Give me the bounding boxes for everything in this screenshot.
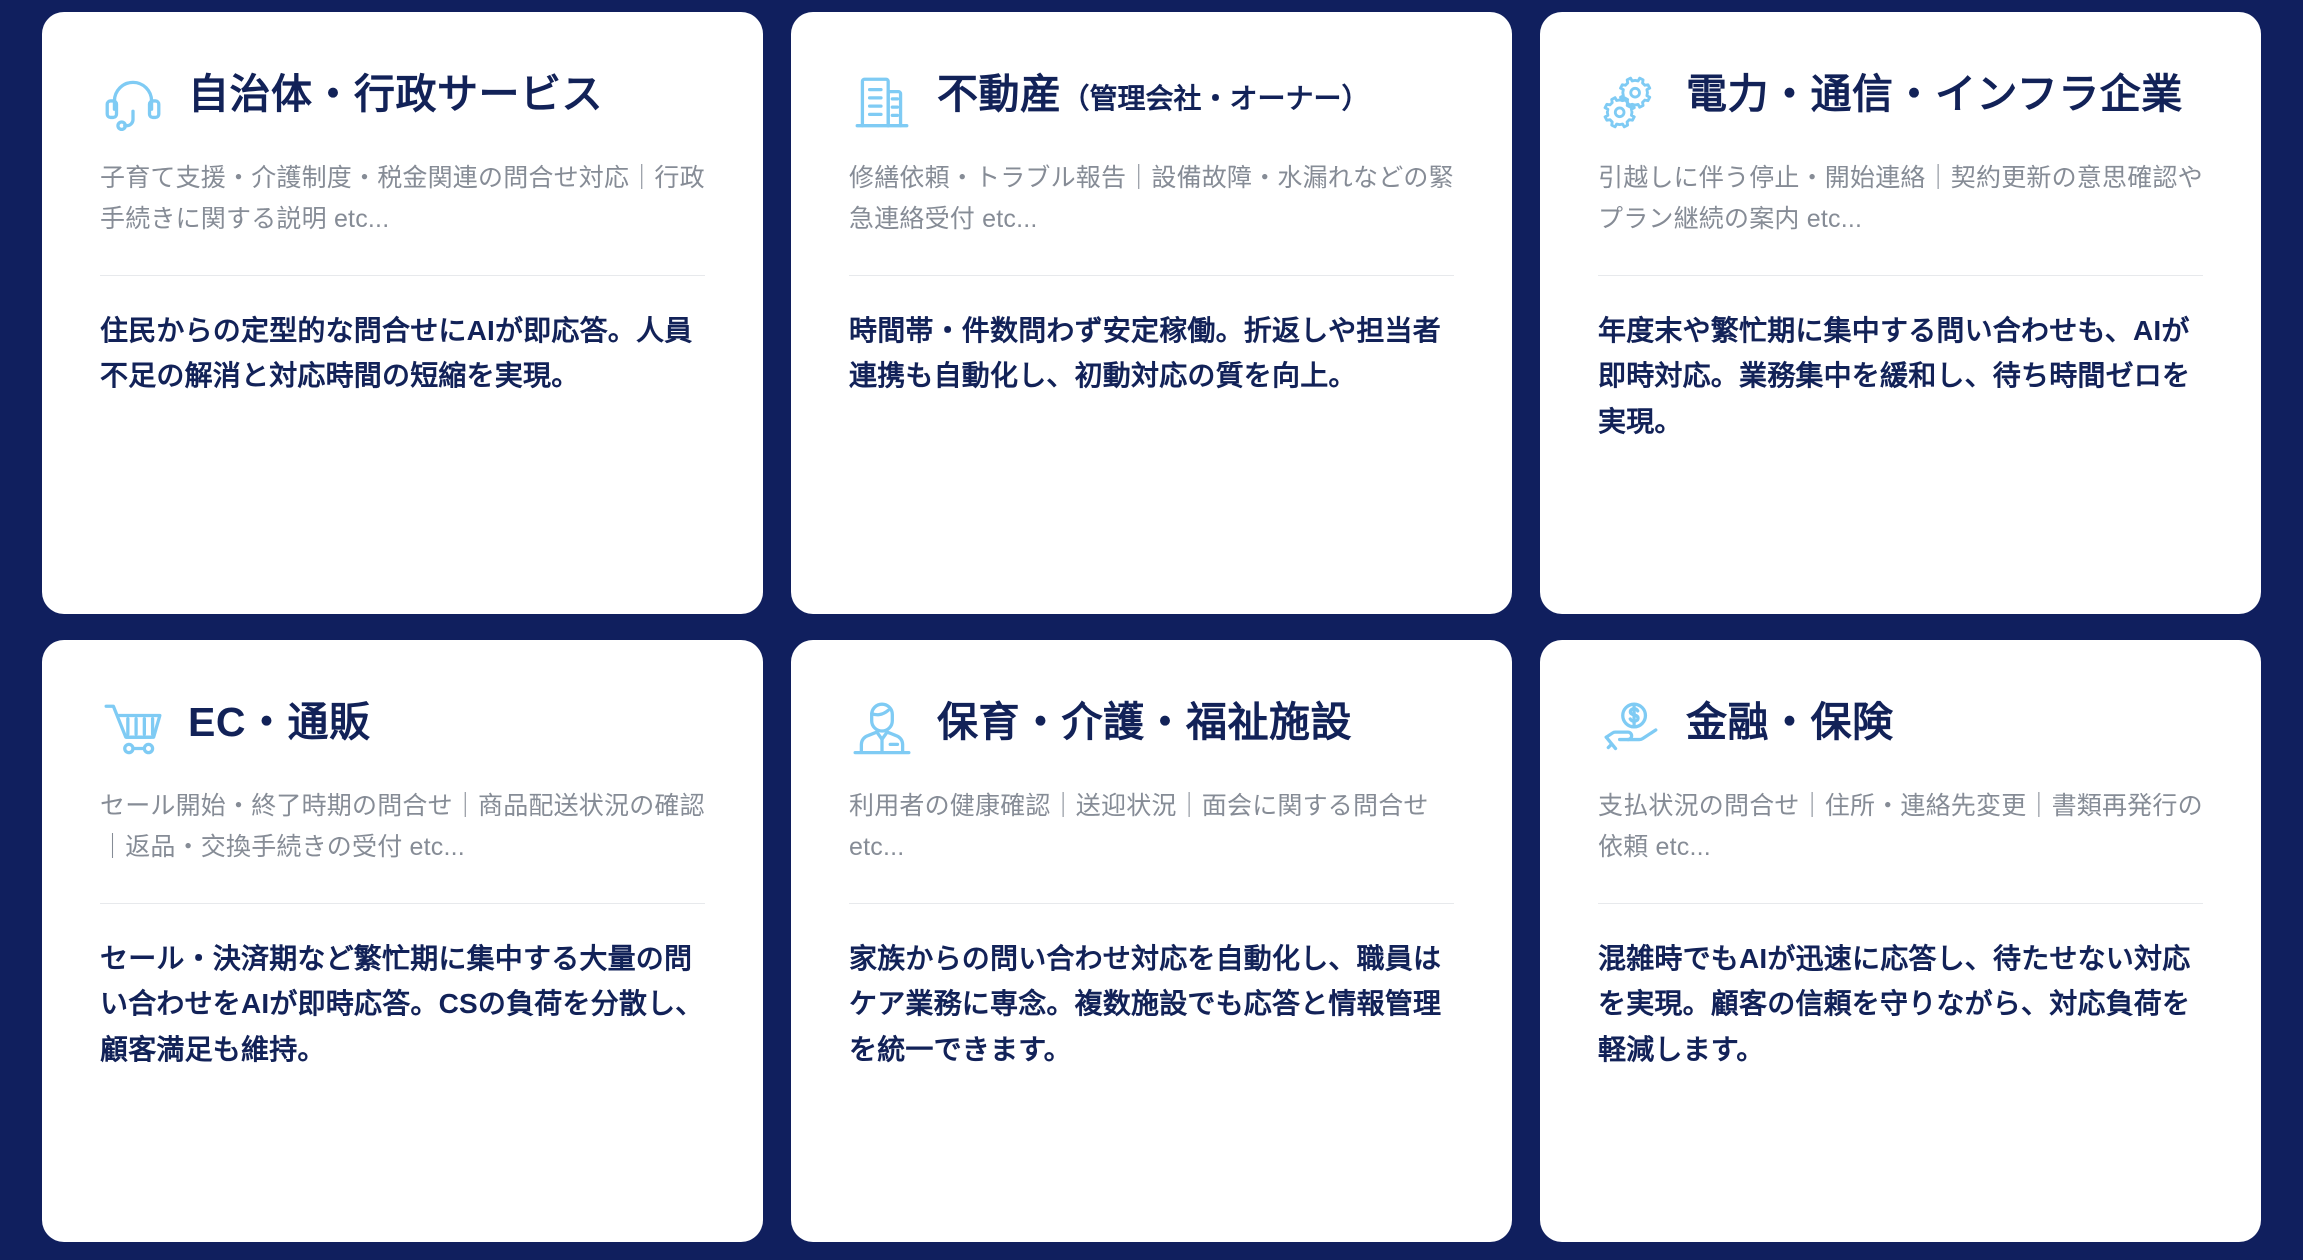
industry-card-grid: 自治体・行政サービス 子育て支援・介護制度・税金関連の問合せ対応｜行政手続きに関… — [0, 0, 2303, 1260]
card-title: 不動産（管理会社・オーナー） — [937, 66, 1370, 120]
card-subtitle: 利用者の健康確認｜送迎状況｜面会に関する問合せ etc... — [849, 786, 1454, 867]
card-title: EC・通販 — [188, 694, 370, 748]
card-divider — [1598, 903, 2203, 904]
card-subtitle: 子育て支援・介護制度・税金関連の問合せ対応｜行政手続きに関する説明 etc... — [100, 158, 705, 239]
card-subtitle: 修繕依頼・トラブル報告｜設備故障・水漏れなどの緊急連絡受付 etc... — [849, 158, 1454, 239]
industry-card-infrastructure[interactable]: 電力・通信・インフラ企業 引越しに伴う停止・開始連絡｜契約更新の意思確認やプラン… — [1540, 12, 2261, 614]
card-divider — [1598, 275, 2203, 276]
card-title-text: EC・通販 — [188, 699, 370, 745]
shopping-cart-icon — [100, 698, 166, 764]
caregiver-icon — [849, 698, 915, 764]
card-body-text: 年度末や繁忙期に集中する問い合わせも、AIが即時対応。業務集中を緩和し、待ち時間… — [1598, 308, 2203, 444]
card-header: 金融・保険 — [1598, 694, 2203, 764]
card-divider — [849, 903, 1454, 904]
hand-coin-icon — [1598, 698, 1664, 764]
card-header: 電力・通信・インフラ企業 — [1598, 66, 2203, 136]
card-subtitle: 支払状況の問合せ｜住所・連絡先変更｜書類再発行の依頼 etc... — [1598, 786, 2203, 867]
card-title-text: 不動産 — [937, 71, 1062, 117]
headset-icon — [100, 70, 166, 136]
card-divider — [100, 903, 705, 904]
card-title: 自治体・行政サービス — [188, 66, 603, 120]
card-title-text: 保育・介護・福祉施設 — [937, 699, 1352, 745]
card-title-paren: （管理会社・オーナー） — [1062, 83, 1370, 114]
building-icon — [849, 70, 915, 136]
industry-card-care-facility[interactable]: 保育・介護・福祉施設 利用者の健康確認｜送迎状況｜面会に関する問合せ etc..… — [791, 640, 1512, 1242]
card-title: 電力・通信・インフラ企業 — [1686, 66, 2183, 120]
industry-card-finance[interactable]: 金融・保険 支払状況の問合せ｜住所・連絡先変更｜書類再発行の依頼 etc... … — [1540, 640, 2261, 1242]
card-body-text: 住民からの定型的な問合せにAIが即応答。人員不足の解消と対応時間の短縮を実現。 — [100, 308, 705, 399]
card-header: EC・通販 — [100, 694, 705, 764]
card-title: 保育・介護・福祉施設 — [937, 694, 1352, 748]
card-body-text: セール・決済期など繁忙期に集中する大量の問い合わせをAIが即時応答。CSの負荷を… — [100, 936, 705, 1072]
card-title: 金融・保険 — [1686, 694, 1894, 748]
industry-card-real-estate[interactable]: 不動産（管理会社・オーナー） 修繕依頼・トラブル報告｜設備故障・水漏れなどの緊急… — [791, 12, 1512, 614]
card-header: 自治体・行政サービス — [100, 66, 705, 136]
card-header: 不動産（管理会社・オーナー） — [849, 66, 1454, 136]
card-header: 保育・介護・福祉施設 — [849, 694, 1454, 764]
industry-card-ecommerce[interactable]: EC・通販 セール開始・終了時期の問合せ｜商品配送状況の確認｜返品・交換手続きの… — [42, 640, 763, 1242]
card-subtitle: 引越しに伴う停止・開始連絡｜契約更新の意思確認やプラン継続の案内 etc... — [1598, 158, 2203, 239]
card-body-text: 混雑時でもAIが迅速に応答し、待たせない対応を実現。顧客の信頼を守りながら、対応… — [1598, 936, 2203, 1072]
gears-icon — [1598, 70, 1664, 136]
card-divider — [100, 275, 705, 276]
card-body-text: 家族からの問い合わせ対応を自動化し、職員はケア業務に専念。複数施設でも応答と情報… — [849, 936, 1454, 1072]
card-title-text: 電力・通信・インフラ企業 — [1686, 71, 2183, 117]
card-title-text: 自治体・行政サービス — [188, 71, 603, 117]
card-body-text: 時間帯・件数問わず安定稼働。折返しや担当者連携も自動化し、初動対応の質を向上。 — [849, 308, 1454, 399]
card-title-text: 金融・保険 — [1686, 699, 1894, 745]
industry-card-government[interactable]: 自治体・行政サービス 子育て支援・介護制度・税金関連の問合せ対応｜行政手続きに関… — [42, 12, 763, 614]
card-subtitle: セール開始・終了時期の問合せ｜商品配送状況の確認｜返品・交換手続きの受付 etc… — [100, 786, 705, 867]
card-divider — [849, 275, 1454, 276]
